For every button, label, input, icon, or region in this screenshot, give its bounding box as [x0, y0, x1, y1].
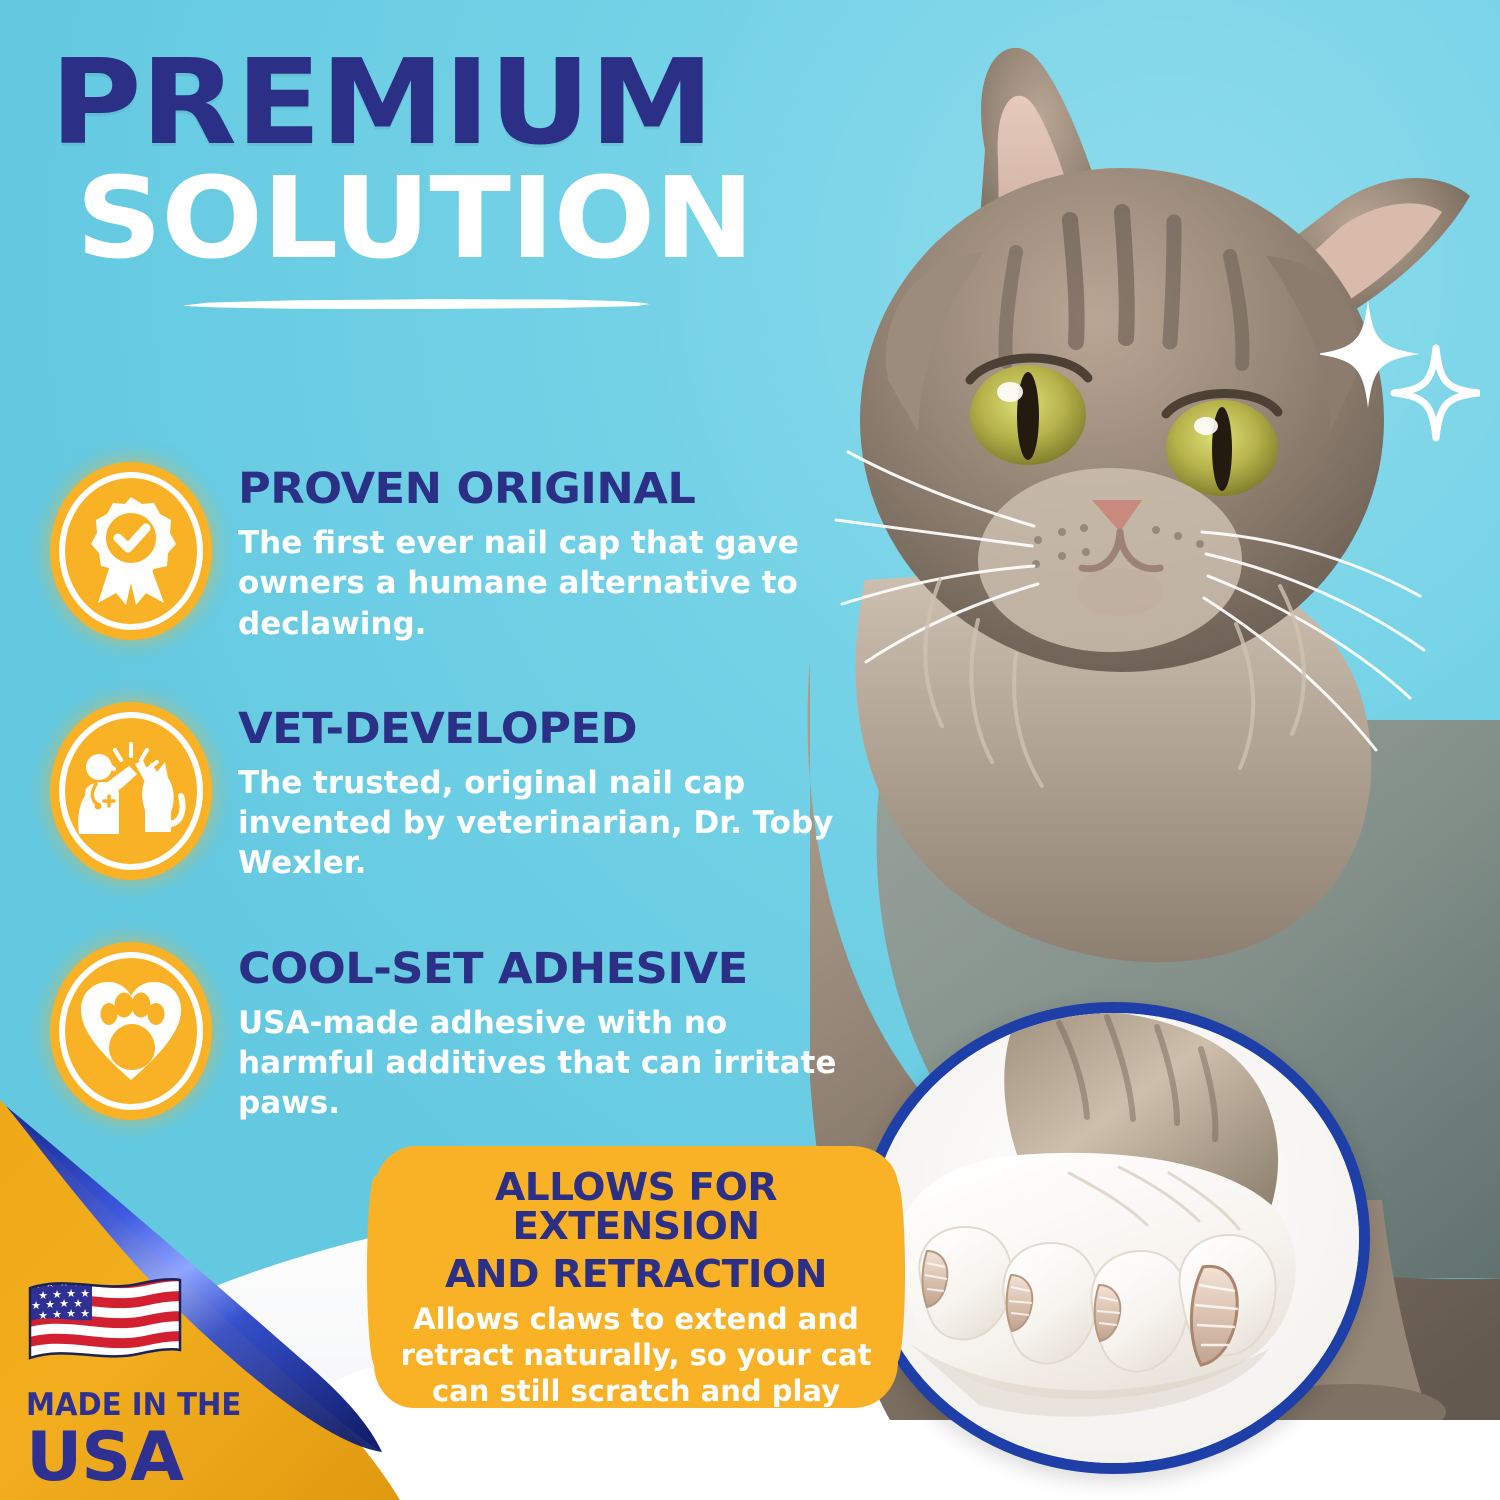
infographic-canvas: PREMIUM SOLUTION PROVEN ORIGINAL The fir…: [0, 0, 1500, 1500]
callout-description: Allows claws to extend and retract natur…: [398, 1302, 874, 1445]
sparkles-group: [1320, 296, 1480, 451]
feature-description: USA-made adhesive with no harmful additi…: [238, 1003, 848, 1124]
cat-paw-with-nail-caps-photo: [858, 1002, 1370, 1474]
callout-title-line-1: ALLOWS FOR EXTENSION: [391, 1168, 881, 1246]
extension-retraction-callout: ALLOWS FOR EXTENSION AND RETRACTION Allo…: [374, 1146, 898, 1408]
feature-title: COOL-SET ADHESIVE: [238, 948, 872, 991]
feature-list: PROVEN ORIGINAL The first ever nail cap …: [50, 462, 860, 1182]
feature-item-cool-set-adhesive: COOL-SET ADHESIVE USA-made adhesive with…: [50, 942, 860, 1124]
svg-text:★: ★: [52, 1308, 62, 1321]
headline-line-2: SOLUTION: [76, 166, 936, 272]
svg-text:★: ★: [38, 1309, 48, 1322]
headline-line-1: PREMIUM: [50, 48, 930, 158]
headline-block: PREMIUM SOLUTION: [50, 48, 880, 311]
feature-description: The first ever nail cap that gave owners…: [238, 523, 848, 644]
heart-paw-icon: [50, 942, 212, 1120]
usa-flag-icon: ★★★★ ★★★★ ★★★★ ★★★★: [26, 1272, 184, 1376]
svg-text:★: ★: [66, 1307, 76, 1320]
sparkle-star-outline-icon: [1394, 348, 1478, 438]
made-in-usa-badge: ★★★★ ★★★★ ★★★★ ★★★★ MADE IN THE USA: [26, 1272, 256, 1491]
made-in-usa-line-2: USA: [26, 1426, 261, 1491]
feature-title: PROVEN ORIGINAL: [238, 468, 872, 511]
award-ribbon-icon: [50, 462, 212, 640]
feature-item-vet-developed: VET-DEVELOPED The trusted, original nail…: [50, 702, 860, 884]
feature-description: The trusted, original nail cap invented …: [238, 763, 848, 884]
vet-highfive-cat-icon: [50, 702, 212, 880]
feature-item-proven-original: PROVEN ORIGINAL The first ever nail cap …: [50, 462, 860, 644]
svg-text:★: ★: [80, 1307, 90, 1320]
callout-title-line-2: AND RETRACTION: [391, 1255, 881, 1294]
made-in-usa-line-1: MADE IN THE: [26, 1390, 242, 1421]
feature-title: VET-DEVELOPED: [238, 708, 872, 751]
headline-divider: [180, 298, 650, 311]
